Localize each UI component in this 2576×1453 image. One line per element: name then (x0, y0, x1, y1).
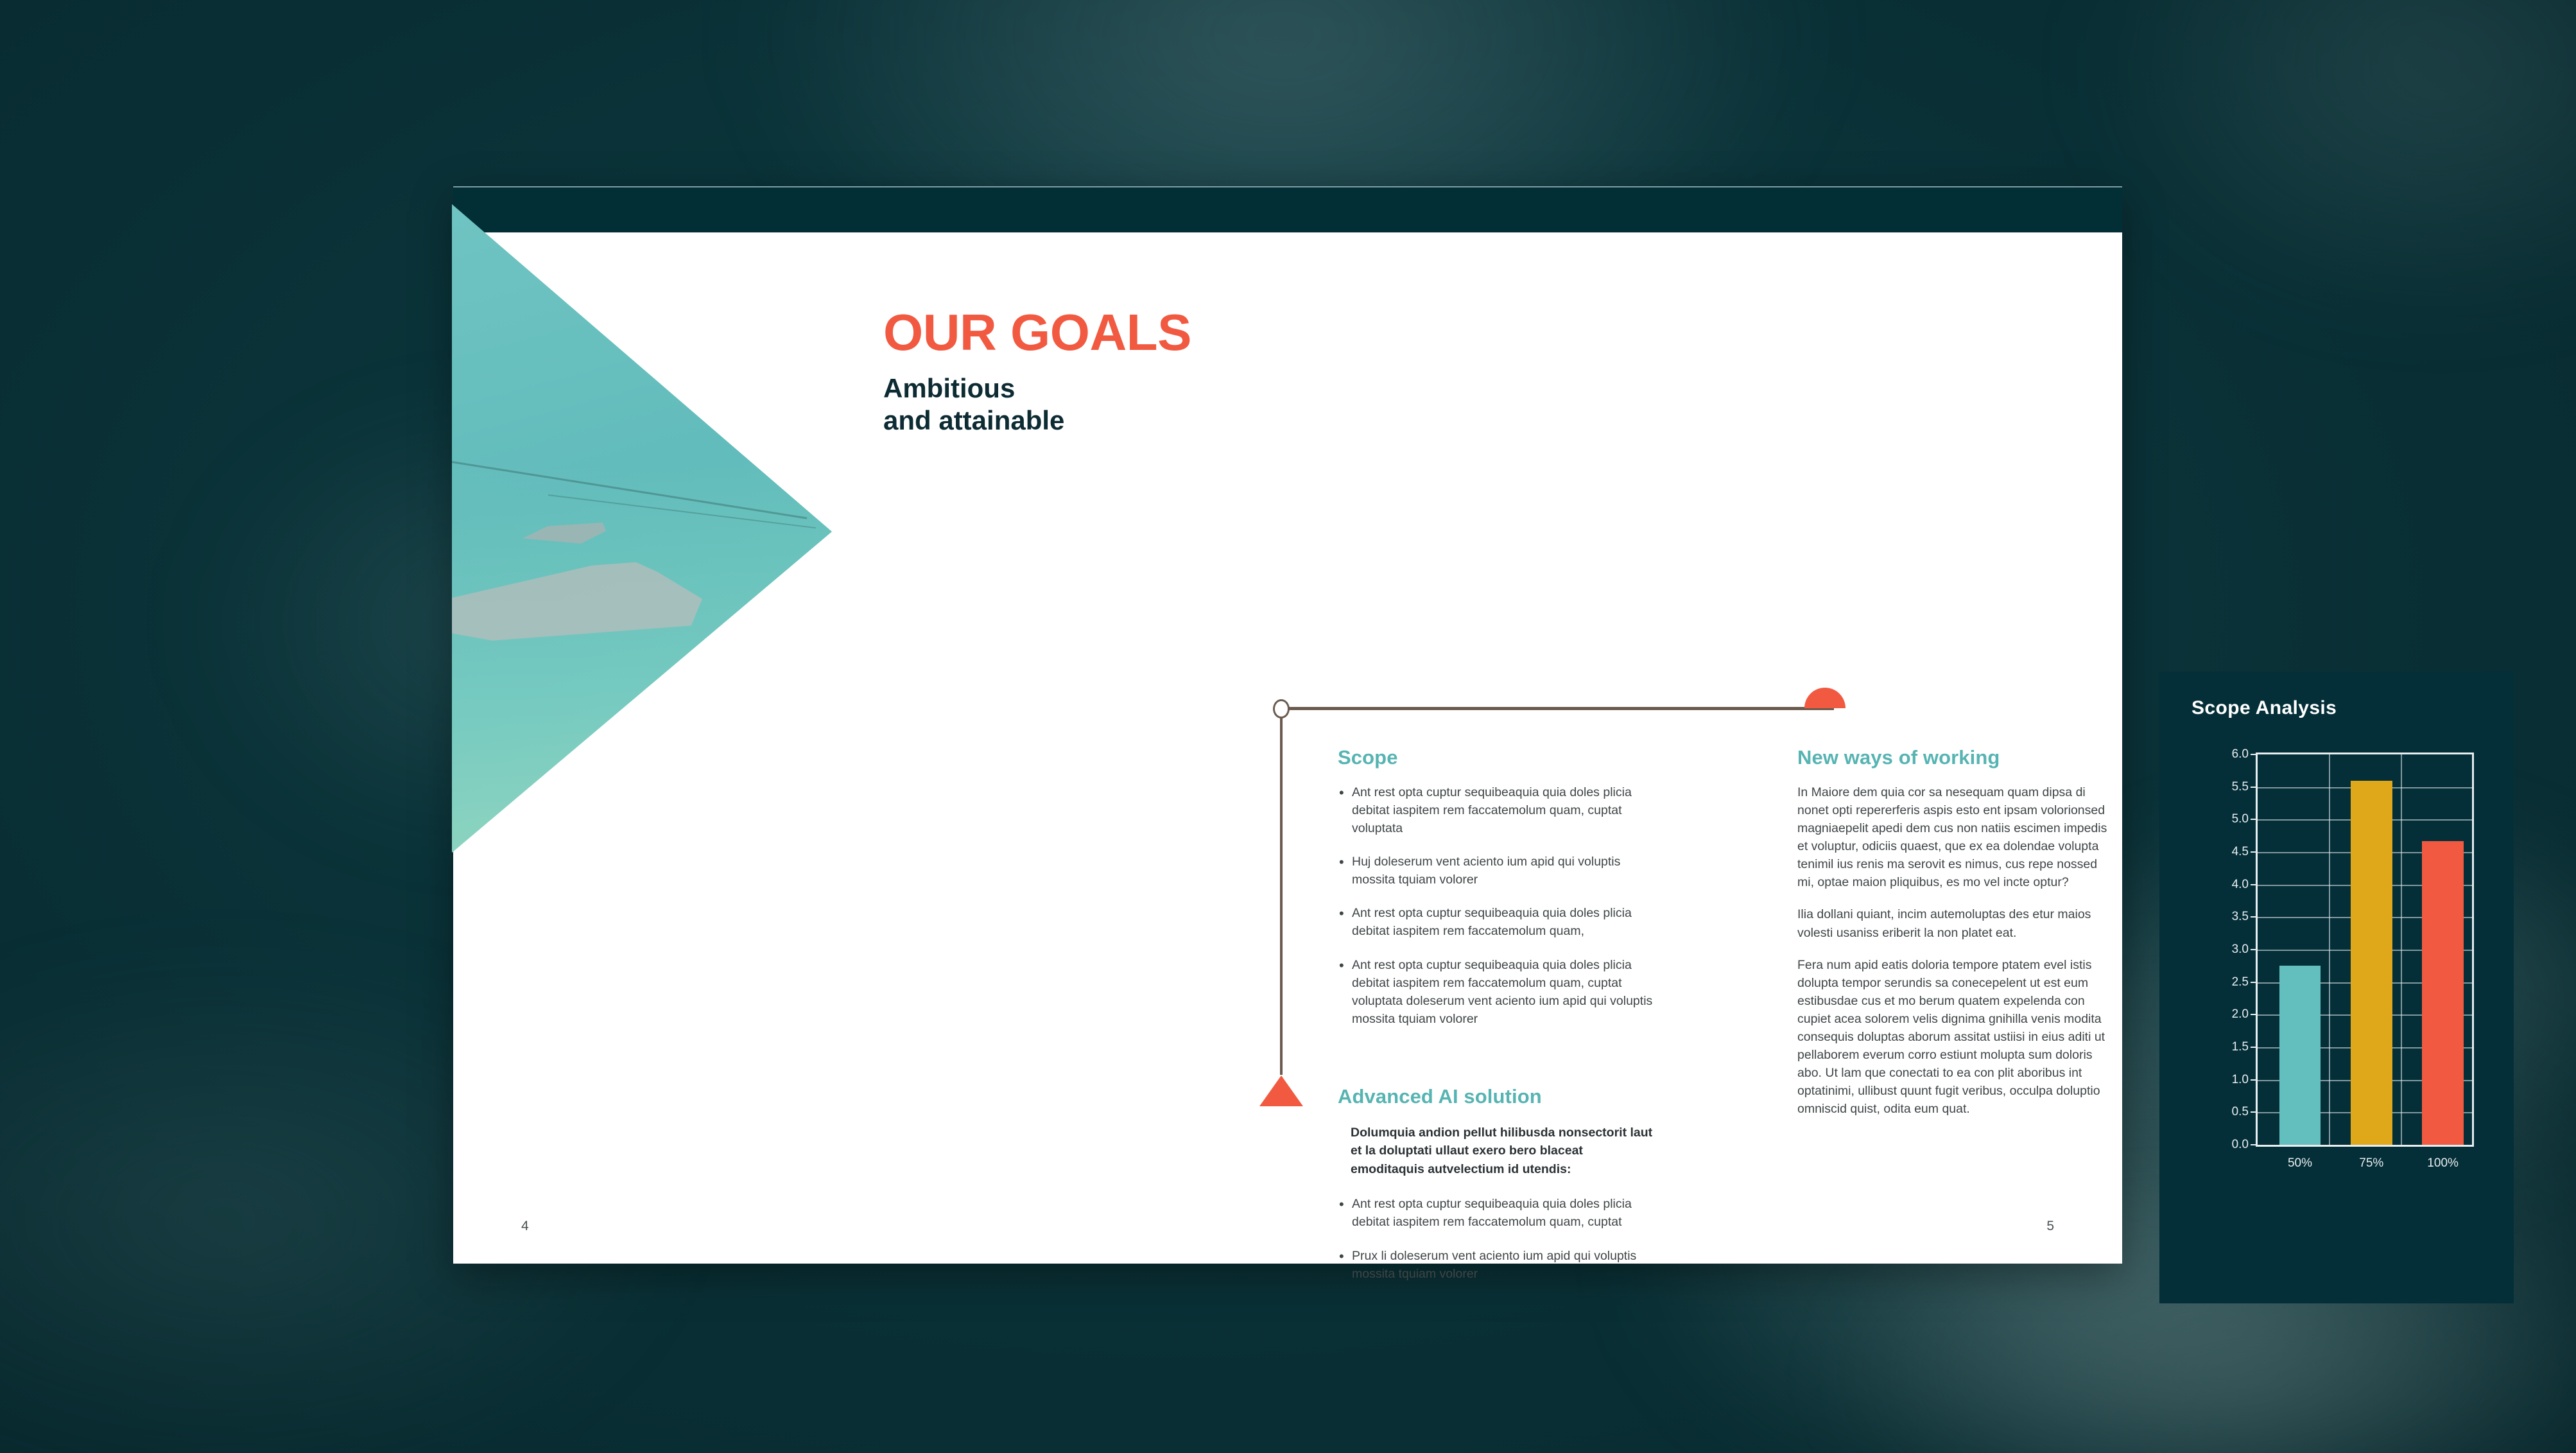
paragraph: Fera num apid eatis doloria tempore ptat… (1797, 956, 2112, 1118)
list-item: Ant rest opta cuptur sequibeaquia quia d… (1338, 904, 1659, 940)
chart-ytick-label: 3.0 (2232, 943, 2249, 957)
chart-ytick-label: 0.5 (2232, 1105, 2249, 1119)
page-number-left: 4 (521, 1219, 529, 1234)
chart-ytick-mark (2251, 1111, 2256, 1113)
page-title: OUR GOALS (883, 307, 1191, 358)
chart-bar (2279, 966, 2321, 1145)
section-advanced-ai-lead-text: Dolumquia andion pellut hilibusda nonsec… (1351, 1124, 1659, 1178)
chart-gridline-vertical (2329, 754, 2330, 1145)
section-new-ways-heading: New ways of working (1797, 746, 2112, 769)
paragraph: Ilia dollani quiant, incim autemoluptas … (1797, 905, 2112, 941)
page-number-right: 5 (2046, 1219, 2054, 1234)
chart-panel: Scope Analysis 0.00.51.01.52.02.53.03.54… (2159, 672, 2514, 1303)
list-item: Prux li doleserum vent aciento ium apid … (1338, 1247, 1659, 1283)
airplane-photo (452, 204, 832, 853)
connector-dome-marker-icon (1804, 688, 1846, 708)
chart-ytick-mark (2251, 1144, 2256, 1145)
chart-ytick-label: 1.5 (2232, 1040, 2249, 1054)
chart-ytick-mark (2251, 949, 2256, 950)
chart-xtick-label: 50% (2288, 1156, 2312, 1170)
airplane-triangle-graphic (452, 204, 832, 853)
chart-ytick-label: 6.0 (2232, 747, 2249, 761)
chart-ytick-mark (2251, 819, 2256, 820)
chart-xtick-label: 100% (2427, 1156, 2459, 1170)
chart-ytick-mark (2251, 851, 2256, 853)
section-advanced-ai-heading: Advanced AI solution (1338, 1085, 1659, 1108)
list-item: Ant rest opta cuptur sequibeaquia quia d… (1338, 783, 1659, 837)
slide-header-band (453, 186, 2122, 232)
section-scope: Scope Ant rest opta cuptur sequibeaquia … (1338, 746, 1659, 1043)
chart-ytick-mark (2251, 1079, 2256, 1081)
chart-ytick-mark (2251, 916, 2256, 918)
paragraph: In Maiore dem quia cor sa nesequam quam … (1797, 783, 2112, 891)
connector-horizontal-line (1286, 707, 1834, 710)
presentation-slide: OUR GOALS Ambitious and attainable Scope… (453, 186, 2122, 1264)
chart-ytick-mark (2251, 754, 2256, 755)
chart-ytick-mark (2251, 787, 2256, 788)
connector-vertical-line (1280, 715, 1283, 1075)
connector-node-circle-icon (1273, 699, 1290, 718)
chart-ytick-label: 0.0 (2232, 1138, 2249, 1152)
chart-ytick-label: 5.0 (2232, 812, 2249, 826)
connector-triangle-marker-icon (1259, 1075, 1303, 1106)
chart-ytick-label: 4.0 (2232, 878, 2249, 892)
chart-ytick-mark (2251, 1047, 2256, 1048)
chart-ytick-label: 2.0 (2232, 1007, 2249, 1022)
chart-ytick-label: 2.5 (2232, 975, 2249, 989)
list-item: Huj doleserum vent aciento ium apid qui … (1338, 853, 1659, 889)
chart-ytick-label: 4.5 (2232, 845, 2249, 859)
scope-bullet-list: Ant rest opta cuptur sequibeaquia quia d… (1338, 783, 1659, 1028)
list-item: Ant rest opta cuptur sequibeaquia quia d… (1338, 1195, 1659, 1231)
chart-ytick-label: 1.0 (2232, 1073, 2249, 1087)
chart-ytick-mark (2251, 884, 2256, 885)
chart-bar (2422, 841, 2464, 1145)
chart-ytick-mark (2251, 982, 2256, 983)
chart-bar (2351, 781, 2392, 1145)
chart-title: Scope Analysis (2191, 697, 2337, 719)
section-scope-heading: Scope (1338, 746, 1659, 769)
chart-ytick-mark (2251, 1014, 2256, 1015)
section-new-ways-of-working: New ways of working In Maiore dem quia c… (1797, 746, 2112, 1118)
page-subtitle: Ambitious and attainable (883, 372, 1191, 436)
chart-ytick-label: 5.5 (2232, 780, 2249, 794)
chart-xtick-label: 75% (2359, 1156, 2383, 1170)
section-advanced-ai-solution: Advanced AI solution Dolumquia andion pe… (1338, 1085, 1659, 1298)
list-item: Ant rest opta cuptur sequibeaquia quia d… (1338, 956, 1659, 1028)
chart-plot-area: 0.00.51.01.52.02.53.03.54.04.55.05.56.05… (2256, 753, 2474, 1147)
advanced-ai-bullet-list: Ant rest opta cuptur sequibeaquia quia d… (1338, 1195, 1659, 1282)
title-block: OUR GOALS Ambitious and attainable (883, 307, 1191, 436)
chart-gridline-vertical (2401, 754, 2402, 1145)
chart-ytick-label: 3.5 (2232, 910, 2249, 924)
